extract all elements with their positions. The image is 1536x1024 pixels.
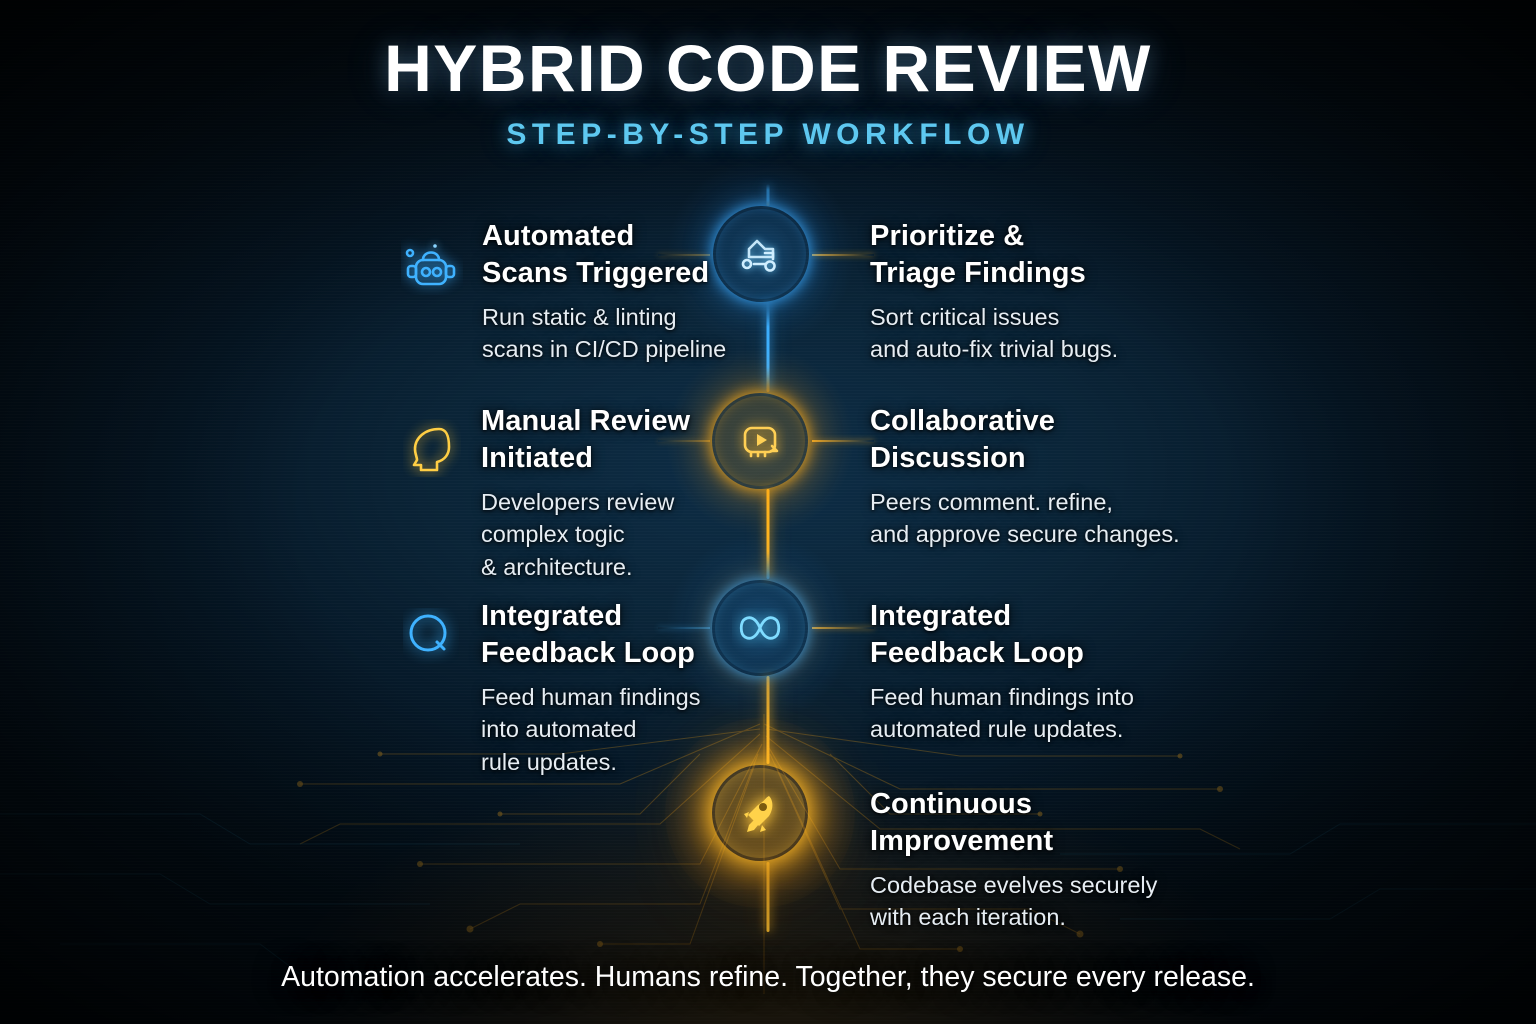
scanline-overlay [0, 0, 1536, 1024]
vignette-overlay [0, 0, 1536, 1024]
footer-tagline: Automation accelerates. Humans refine. T… [0, 961, 1536, 994]
left-step-3-body: Feed human findings into automated rule … [481, 681, 759, 778]
connector-node1-node2 [767, 302, 770, 392]
left-step-1-body: Run static & linting scans in CI/CD pipe… [482, 301, 760, 365]
connector-below-node4 [767, 862, 770, 932]
right-step-3-title: Integrated Feedback Loop [870, 598, 1230, 672]
right-step-4-title: Continuous Improvement [870, 786, 1230, 860]
tick-node3-right [812, 627, 874, 629]
right-step-2: Collaborative Discussion Peers comment. … [870, 403, 1250, 551]
page-title: HYBRID CODE REVIEW [0, 34, 1536, 104]
tick-node1-right [812, 254, 874, 256]
connector-node3-node4 [767, 676, 770, 764]
infographic-canvas: HYBRID CODE REVIEW STEP-BY-STEP WORKFLOW [0, 0, 1536, 1024]
left-icon-1-wrap [401, 233, 463, 295]
left-step-3: Integrated Feedback Loop Feed human find… [481, 598, 759, 778]
magnifier-loop-icon [403, 608, 459, 664]
page-subtitle: STEP-BY-STEP WORKFLOW [0, 118, 1536, 152]
right-step-1: Prioritize & Triage Findings Sort critic… [870, 218, 1210, 366]
left-step-2: Manual Review Initiated Developers revie… [481, 403, 759, 583]
right-step-4-body: Codebase evelves securely with each iter… [870, 869, 1230, 933]
left-step-2-title: Manual Review Initiated [481, 403, 759, 477]
right-step-1-body: Sort critical issues and auto-fix trivia… [870, 301, 1210, 365]
right-step-4: Continuous Improvement Codebase evelves … [870, 786, 1230, 934]
human-head-profile-icon [403, 419, 461, 477]
left-step-1: Automated Scans Triggered Run static & l… [482, 218, 760, 366]
right-step-1-title: Prioritize & Triage Findings [870, 218, 1210, 292]
left-icon-2-wrap [403, 419, 461, 477]
right-step-2-body: Peers comment. refine, and approve secur… [870, 486, 1250, 550]
node-improvement-ring [712, 765, 808, 861]
right-step-3: Integrated Feedback Loop Feed human find… [870, 598, 1230, 746]
left-step-3-title: Integrated Feedback Loop [481, 598, 759, 672]
left-step-2-body: Developers review complex togic & archit… [481, 486, 759, 583]
rocket-icon [735, 788, 785, 838]
tick-node2-right [812, 440, 874, 442]
right-step-3-body: Feed human findings into automated rule … [870, 681, 1230, 745]
workflow-spine [0, 0, 1536, 1024]
robot-bot-icon [401, 233, 463, 295]
header: HYBRID CODE REVIEW STEP-BY-STEP WORKFLOW [0, 34, 1536, 152]
left-icon-3-wrap [403, 608, 459, 664]
connector-above-node1 [767, 184, 770, 206]
node-improvement[interactable] [712, 765, 808, 861]
connector-node2-node3 [767, 489, 770, 579]
left-step-1-title: Automated Scans Triggered [482, 218, 760, 292]
right-step-2-title: Collaborative Discussion [870, 403, 1250, 477]
